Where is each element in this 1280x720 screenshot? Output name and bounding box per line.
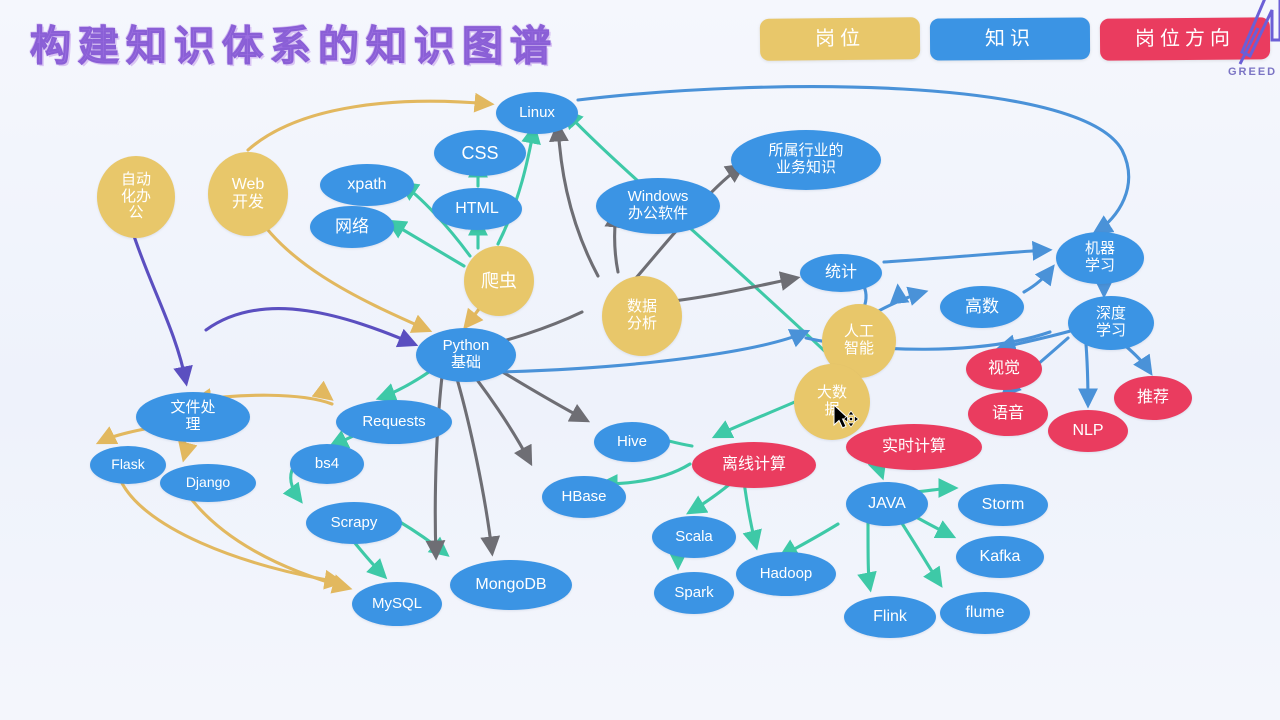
graph-node-windows[interactable]: Windows 办公软件 [596, 178, 720, 234]
graph-node-java[interactable]: JAVA [846, 482, 928, 526]
graph-node-webkaifa[interactable]: Web 开发 [208, 152, 288, 236]
graph-node-flume[interactable]: flume [940, 592, 1030, 634]
graph-node-shujufenxi[interactable]: 数据 分析 [602, 276, 682, 356]
graph-node-css[interactable]: CSS [434, 130, 526, 176]
graph-node-hive[interactable]: Hive [594, 422, 670, 462]
graph-node-hbase[interactable]: HBase [542, 476, 626, 518]
header: 构建知识体系的知识图谱 岗位 知识 岗位方向 GREED [0, 0, 1280, 86]
graph-node-kafka[interactable]: Kafka [956, 536, 1044, 578]
graph-edges-layer [0, 0, 1280, 720]
graph-node-django[interactable]: Django [160, 464, 256, 502]
legend-post[interactable]: 岗位 [760, 17, 920, 61]
graph-node-flask[interactable]: Flask [90, 446, 166, 484]
page-title: 构建知识体系的知识图谱 [30, 12, 558, 72]
greedyai-arrow-logo-icon [1236, 0, 1280, 74]
knowledge-graph-canvas: LinuxCSSxpathHTML网络自动 化办 公Web 开发爬虫Window… [0, 0, 1280, 720]
graph-node-zidonghua[interactable]: 自动 化办 公 [97, 156, 175, 238]
graph-node-shishijisuan[interactable]: 实时计算 [846, 424, 982, 470]
graph-node-dashuju[interactable]: 大数 据 [794, 364, 870, 440]
graph-node-tongji[interactable]: 统计 [800, 254, 882, 292]
graph-node-shijue[interactable]: 视觉 [966, 348, 1042, 390]
graph-node-nlp[interactable]: NLP [1048, 410, 1128, 452]
graph-node-linux[interactable]: Linux [496, 92, 578, 134]
graph-node-gaoshu[interactable]: 高数 [940, 286, 1024, 328]
graph-node-tuijian[interactable]: 推荐 [1114, 376, 1192, 420]
graph-node-pachong[interactable]: 爬虫 [464, 246, 534, 316]
graph-node-html[interactable]: HTML [432, 188, 522, 230]
graph-node-storm[interactable]: Storm [958, 484, 1048, 526]
graph-node-flink[interactable]: Flink [844, 596, 936, 638]
graph-node-scala[interactable]: Scala [652, 516, 736, 558]
legend-knowledge[interactable]: 知识 [930, 17, 1090, 60]
graph-node-yuyin[interactable]: 语音 [968, 392, 1048, 436]
graph-node-wenjianchuli[interactable]: 文件处 理 [136, 392, 250, 442]
graph-node-pythonjichu[interactable]: Python 基础 [416, 328, 516, 382]
graph-node-spark[interactable]: Spark [654, 572, 734, 614]
graph-node-mysql[interactable]: MySQL [352, 582, 442, 626]
graph-node-shenduxuexi[interactable]: 深度 学习 [1068, 296, 1154, 350]
graph-node-xpath[interactable]: xpath [320, 164, 414, 206]
graph-node-scrapy[interactable]: Scrapy [306, 502, 402, 544]
graph-node-wangluo[interactable]: 网络 [310, 206, 394, 248]
graph-node-jiqixuexi[interactable]: 机器 学习 [1056, 232, 1144, 284]
graph-node-lixianjisuan[interactable]: 离线计算 [692, 442, 816, 488]
graph-node-bs4[interactable]: bs4 [290, 444, 364, 484]
graph-node-mongodb[interactable]: MongoDB [450, 560, 572, 610]
graph-node-hangye[interactable]: 所属行业的 业务知识 [731, 130, 881, 190]
graph-node-requests[interactable]: Requests [336, 400, 452, 444]
logo-text: GREED [1228, 66, 1277, 78]
graph-node-hadoop[interactable]: Hadoop [736, 552, 836, 596]
